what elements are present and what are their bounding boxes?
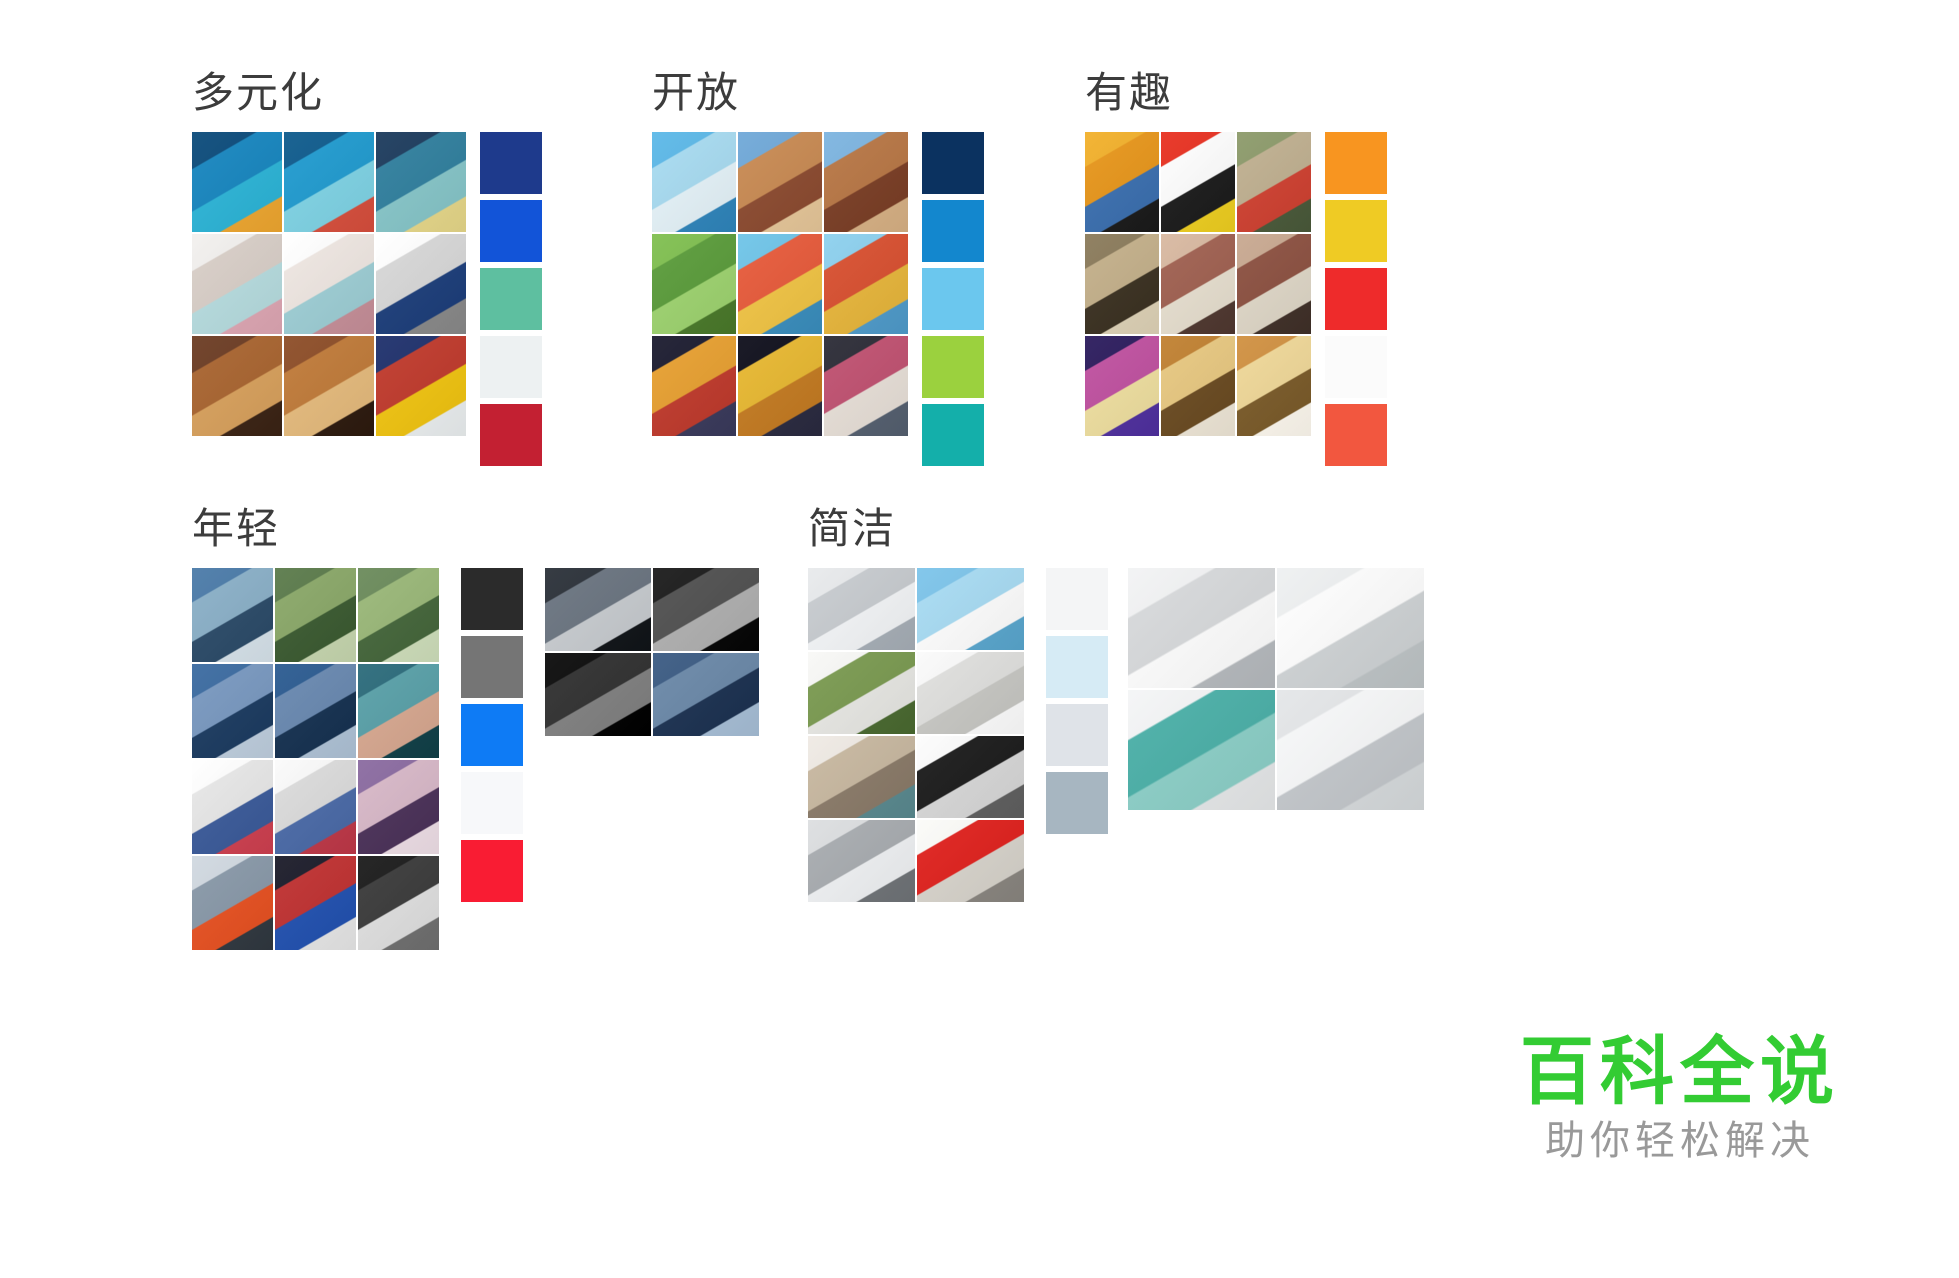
collage-tile-young-woman-colorful-hair [358,664,439,758]
collage-tile-ocean-beach-horizon-sky [652,132,736,232]
collage-tile-music-festival-crowd-night [652,336,736,436]
collage-tile-golden-retriever-dog-and-cat [1161,336,1235,436]
collage-tile-muji-product-catalog-page [917,820,1024,902]
palette-fun [1325,132,1387,472]
collage-tile-hot-air-balloons-sky [738,234,822,334]
watermark-brand-text: 百科全说 [1480,1035,1880,1109]
collage-tile-sneakers-pattern-wall [358,856,439,950]
collage-young-extra [545,568,759,736]
color-swatch-pale-blue [1046,636,1108,698]
color-swatch-electric-blue [461,704,523,766]
collage-tile-minimal-dining-room-interior [808,736,915,818]
collage-tile-clear-drinking-glass [1277,568,1424,688]
color-swatch-navy-blue [480,132,542,194]
collage-tile-bungee-jumping-canyon [275,568,356,662]
collage-tile-disney-castle-fireworks [1085,336,1159,436]
collage-tile-underwater-coral-reef-fish [284,132,374,232]
collage-open [652,132,908,436]
color-swatch-gray [461,636,523,698]
collage-tile-denim-jeans-pocket-closeup [653,653,759,736]
color-swatch-ocean-blue [922,200,984,262]
palette-diversity [480,132,542,472]
palette-open [922,132,984,472]
collage-tile-olympic-stadium-ceremony [738,336,822,436]
group-body-diversity [192,132,542,472]
collage-tile-desert-canyon-road-landscape [738,132,822,232]
collage-tile-minecraft-blocky-landscape [652,234,736,334]
collage-tile-group-of-friends-jumping [275,760,356,854]
group-title-simple: 简洁 [808,508,1424,550]
color-swatch-sky-blue [922,268,984,330]
collage-tile-united-nations-flags-assembly [376,336,466,436]
group-title-diversity: 多元化 [192,72,542,114]
collage-tile-cat-wearing-christmas-hat [1237,132,1311,232]
group-title-open: 开放 [652,72,984,114]
collage-tile-stacked-white-plates [1128,568,1275,688]
collage-fun [1085,132,1311,436]
color-swatch-charcoal [461,568,523,630]
collage-tile-tire-tread-bw-macro [653,568,759,651]
moodboard-group-open: 开放 [652,72,984,472]
palette-simple [1046,568,1108,840]
collage-tile-skydiver-face-closeup [192,664,273,758]
moodboard-group-young: 年轻 [192,508,759,950]
collage-tile-minimal-white-corridor-architecture [808,568,915,650]
group-body-simple [808,568,1424,902]
color-swatch-near-white [1046,568,1108,630]
collage-tile-bungee-jumping-canyon [358,568,439,662]
collage-tile-hot-air-balloons-sky [824,234,908,334]
collage-tile-skateboarder-silhouette [192,856,273,950]
collage-simple-extra [1128,568,1424,810]
color-swatch-orange [1325,132,1387,194]
moodboard-group-simple: 简洁 [808,508,1424,902]
collage-tile-air-jordan-sneakers-basketball [275,856,356,950]
group-body-young [192,568,759,950]
collage-tile-macbook-air-laptop-product [808,820,915,902]
color-swatch-yellow [1325,200,1387,262]
color-swatch-deep-navy [922,132,984,194]
color-swatch-white [1325,336,1387,398]
collage-tile-man-shouting-surprised-face [1161,234,1235,334]
collage-tile-underwater-coral-reef-fish [192,132,282,232]
collage-tile-golden-retriever-dog-and-cat [1237,336,1311,436]
group-body-open [652,132,984,472]
color-swatch-coral-red [1325,404,1387,466]
color-swatch-red [461,840,523,902]
watermark-tagline-text: 助你轻松解决 [1480,1121,1880,1161]
collage-tile-skydiver-face-closeup [275,664,356,758]
collage-tile-funny-baby-photo-artwork [1085,234,1159,334]
collage-young [192,568,439,950]
collage-tile-cosmetics-perfume-bottles [192,234,282,334]
collage-tile-green-leaf-minimal-white [808,652,915,734]
color-swatch-light-gray-blue [1046,704,1108,766]
collage-tile-library-bookshelves-interior [284,336,374,436]
collage-tile-desert-canyon-road-landscape [824,132,908,232]
collage-tile-group-of-friends-jumping [192,760,273,854]
collage-tile-mantis-shrimp-meme-graphic [1161,132,1235,232]
color-swatch-turquoise [922,404,984,466]
collage-tile-girl-with-purple-hair-portrait [358,760,439,854]
collage-tile-round-clear-glass-bowl [1277,690,1424,810]
collage-diversity [192,132,466,436]
group-title-fun: 有趣 [1085,72,1387,114]
collage-tile-midnight-in-paris-movie-poster [376,132,466,232]
group-title-young: 年轻 [192,508,759,550]
collage-simple [808,568,1024,902]
palette-young [461,568,523,908]
color-swatch-off-white [480,336,542,398]
collage-tile-white-slippers-product-shot [917,652,1024,734]
color-swatch-slate-blue-gray [1046,772,1108,834]
collage-tile-fashion-models-street-style [824,336,908,436]
collage-tile-brain-ideas-sketch-illustration [376,234,466,334]
collage-tile-skydiving-over-city [192,568,273,662]
collage-tile-minions-cartoon-characters [1085,132,1159,232]
collage-tile-teal-glass-vase-tall [1128,690,1275,810]
color-swatch-red [1325,268,1387,330]
color-swatch-white [461,772,523,834]
moodboard-group-fun: 有趣 [1085,72,1387,472]
collage-tile-car-headlight-bw-macro [545,568,651,651]
collage-tile-black-perfume-bottle-product [917,736,1024,818]
collage-tile-man-shouting-surprised-face [1237,234,1311,334]
watermark-logo: 百科全说 助你轻松解决 [1480,1035,1880,1161]
moodboard-group-diversity: 多元化 [192,72,542,472]
color-swatch-teal-green [480,268,542,330]
color-swatch-lime-green [922,336,984,398]
color-swatch-bright-blue [480,200,542,262]
group-body-fun [1085,132,1387,472]
color-swatch-crimson-red [480,404,542,466]
collage-tile-black-glossy-curve-abstract [545,653,651,736]
collage-tile-cosmetics-perfume-bottles [284,234,374,334]
collage-tile-library-bookshelves-interior [192,336,282,436]
collage-tile-blue-sky-minimal-illustration [917,568,1024,650]
